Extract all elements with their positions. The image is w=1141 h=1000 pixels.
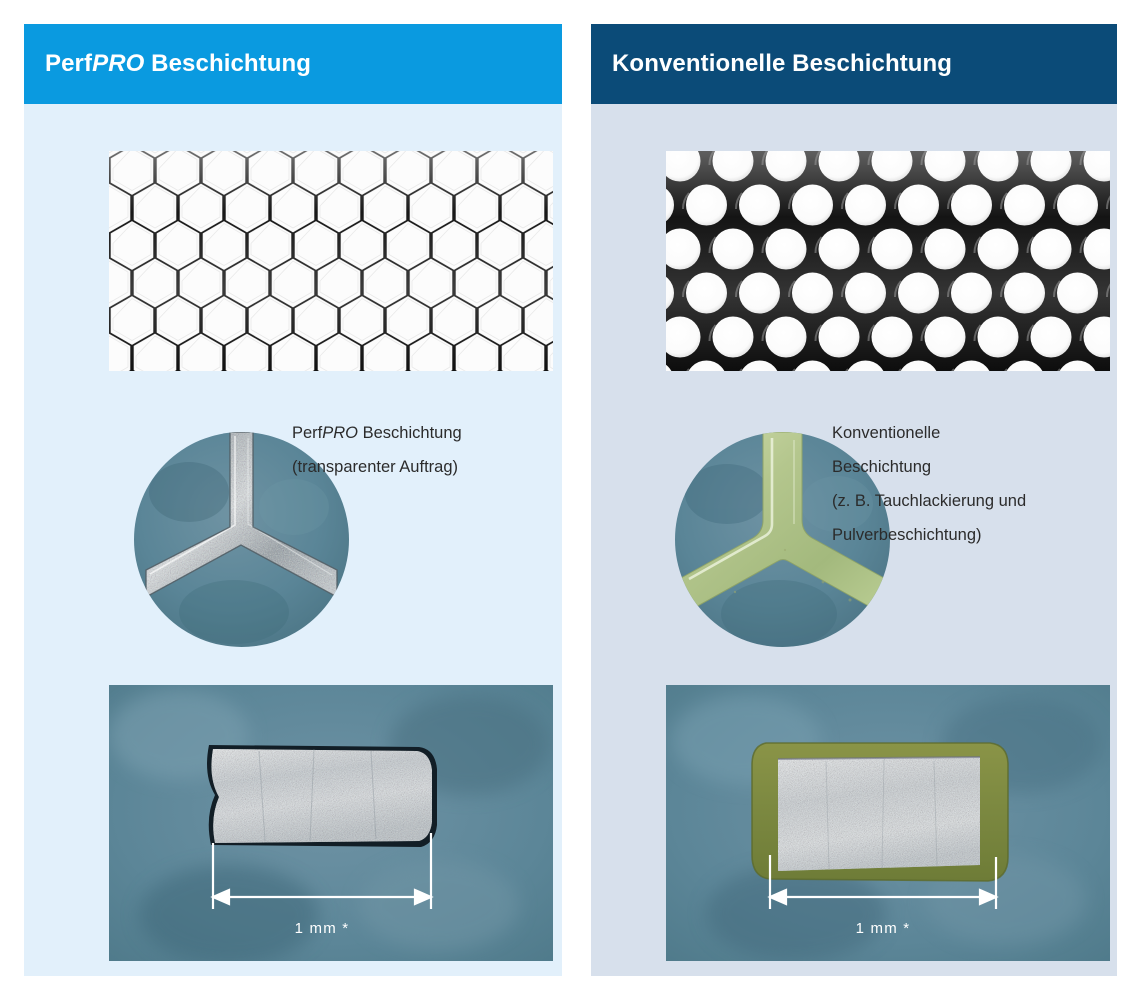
caption-konventionell-line-2: Beschichtung: [832, 450, 1102, 484]
caption-perfpro: PerfPRO Beschichtung (transparenter Auft…: [292, 416, 542, 484]
caption-konventionell-line-3: (z. B. Tauchlackierung und: [832, 484, 1102, 518]
caption-perfpro-line-1-post: Beschichtung: [358, 424, 462, 442]
panel-title-perfpro-post: Beschichtung: [144, 50, 311, 77]
comparison-figure: PerfPRO Beschichtung: [0, 0, 1141, 1000]
hexagonal-perforated-mesh-photo: [109, 151, 553, 371]
cross-section-perfpro: 1 mm *: [109, 685, 553, 961]
caption-perfpro-line-2: (transparenter Auftrag): [292, 450, 542, 484]
scale-label-perfpro: 1 mm *: [295, 920, 350, 937]
panel-perfpro: PerfPRO Beschichtung: [24, 24, 562, 976]
panel-header-perfpro: PerfPRO Beschichtung: [24, 24, 562, 104]
panel-title-konventionell-pre: Konventionelle Beschichtung: [612, 50, 952, 77]
caption-konventionell: Konventionelle Beschichtung (z. B. Tauch…: [832, 416, 1102, 552]
panel-title-perfpro: PerfPRO Beschichtung: [24, 50, 311, 78]
panel-title-perfpro-pre: Perf: [45, 50, 92, 77]
panel-title-konventionell: Konventionelle Beschichtung: [591, 50, 952, 78]
hexagon-pattern-graphic: [109, 151, 553, 371]
panel-header-konventionell: Konventionelle Beschichtung: [591, 24, 1117, 104]
round-perforated-mesh-photo: [666, 151, 1110, 371]
caption-perfpro-line-1-pre: Perf: [292, 424, 322, 442]
caption-perfpro-line-1-emphasis: PRO: [322, 424, 358, 442]
caption-perfpro-line-1: PerfPRO Beschichtung: [292, 416, 542, 450]
panel-konventionell: Konventionelle Beschichtung: [591, 24, 1117, 976]
caption-konventionell-line-4: Pulverbeschichtung): [832, 518, 1102, 552]
scale-label-konventionell: 1 mm *: [856, 920, 911, 937]
cross-section-konventionell: 1 mm *: [666, 685, 1110, 961]
panel-title-perfpro-emphasis: PRO: [92, 50, 144, 77]
circle-pattern-graphic: [666, 151, 1110, 371]
caption-konventionell-line-1: Konventionelle: [832, 416, 1102, 450]
